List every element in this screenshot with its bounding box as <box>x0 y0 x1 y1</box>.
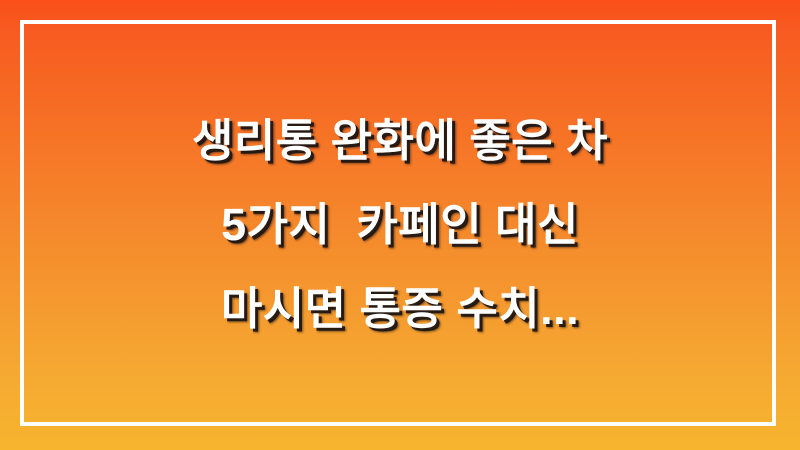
title-line-2: 5가지 카페인 대신 <box>0 183 800 267</box>
title-line-1: 생리통 완화에 좋은 차 <box>0 99 800 183</box>
title-line-3: 마시면 통증 수치... <box>0 267 800 351</box>
thumbnail-card: 생리통 완화에 좋은 차 5가지 카페인 대신 마시면 통증 수치... <box>0 0 800 450</box>
title-block: 생리통 완화에 좋은 차 5가지 카페인 대신 마시면 통증 수치... <box>0 0 800 450</box>
